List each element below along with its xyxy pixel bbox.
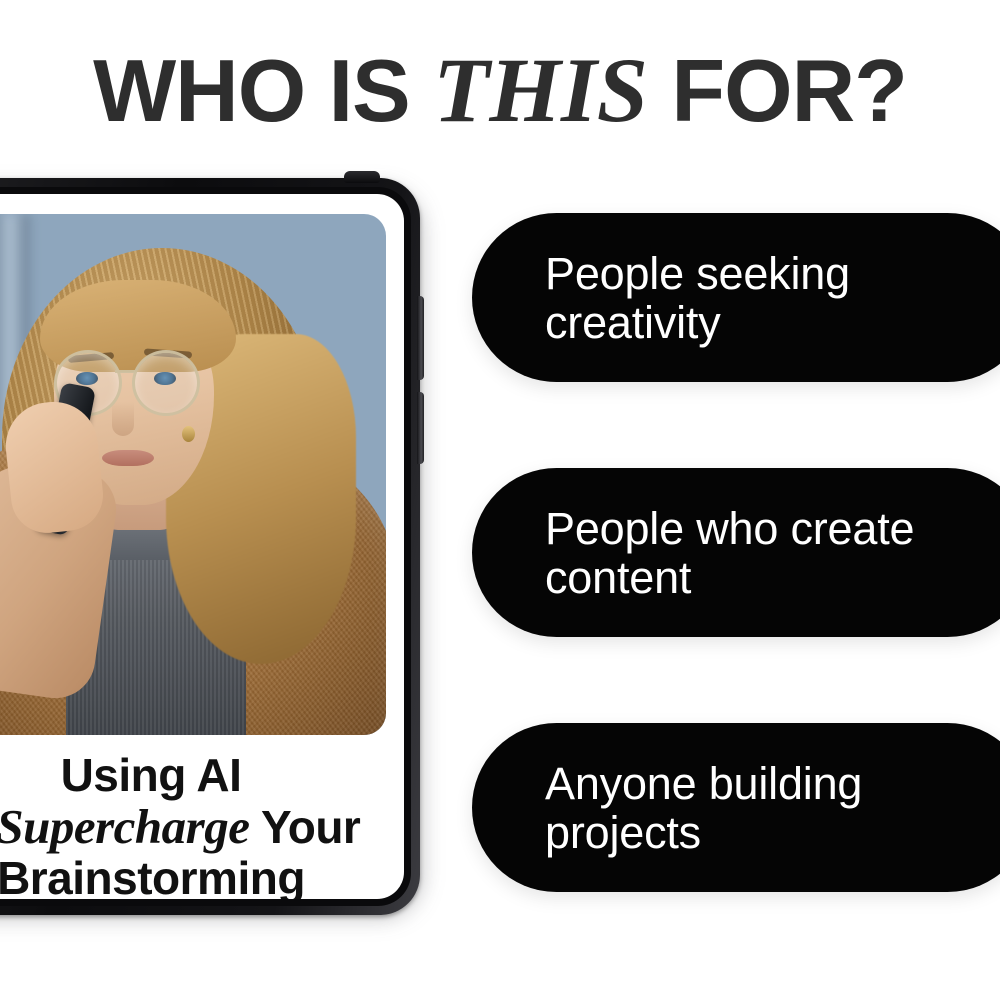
device-screen: Using AI to Supercharge Your Brainstormi… — [0, 194, 404, 899]
camera-icon — [344, 171, 380, 183]
device-caption: Using AI to Supercharge Your Brainstormi… — [0, 750, 404, 899]
device-photo — [0, 214, 386, 735]
device-caption-line-2-post: Your — [250, 801, 361, 853]
device-caption-emphasis: Supercharge — [0, 799, 250, 854]
page-title-part-2: FOR? — [648, 41, 907, 140]
photo-subject-nose — [112, 402, 134, 436]
audience-pill-1-label: People seeking creativity — [472, 249, 989, 347]
photo-subject-lips — [102, 450, 154, 466]
power-button[interactable] — [417, 392, 424, 464]
audience-pill-1[interactable]: People seeking creativity — [472, 213, 1000, 382]
page-title-part-1: WHO IS — [93, 41, 433, 140]
device-caption-line-1: Using AI — [0, 750, 404, 801]
photo-subject-glasses-bridge — [115, 370, 135, 373]
device-mockup: Using AI to Supercharge Your Brainstormi… — [0, 178, 422, 918]
audience-pill-2-label: People who create content — [472, 504, 989, 602]
audience-pill-3-label: Anyone building projects — [472, 759, 989, 857]
device-caption-line-2: to Supercharge Your — [0, 801, 404, 853]
slide-canvas: WHO IS THIS FOR? — [0, 0, 1000, 1000]
page-title: WHO IS THIS FOR? — [0, 42, 1000, 139]
audience-pill-2[interactable]: People who create content — [472, 468, 1000, 637]
photo-subject-earring — [182, 426, 195, 442]
device-frame: Using AI to Supercharge Your Brainstormi… — [0, 178, 420, 915]
volume-button[interactable] — [417, 296, 424, 380]
device-caption-line-3: Brainstorming — [0, 853, 404, 899]
page-title-emphasis: THIS — [433, 39, 648, 141]
photo-subject-glasses-right-lens — [132, 350, 200, 416]
audience-pill-3[interactable]: Anyone building projects — [472, 723, 1000, 892]
